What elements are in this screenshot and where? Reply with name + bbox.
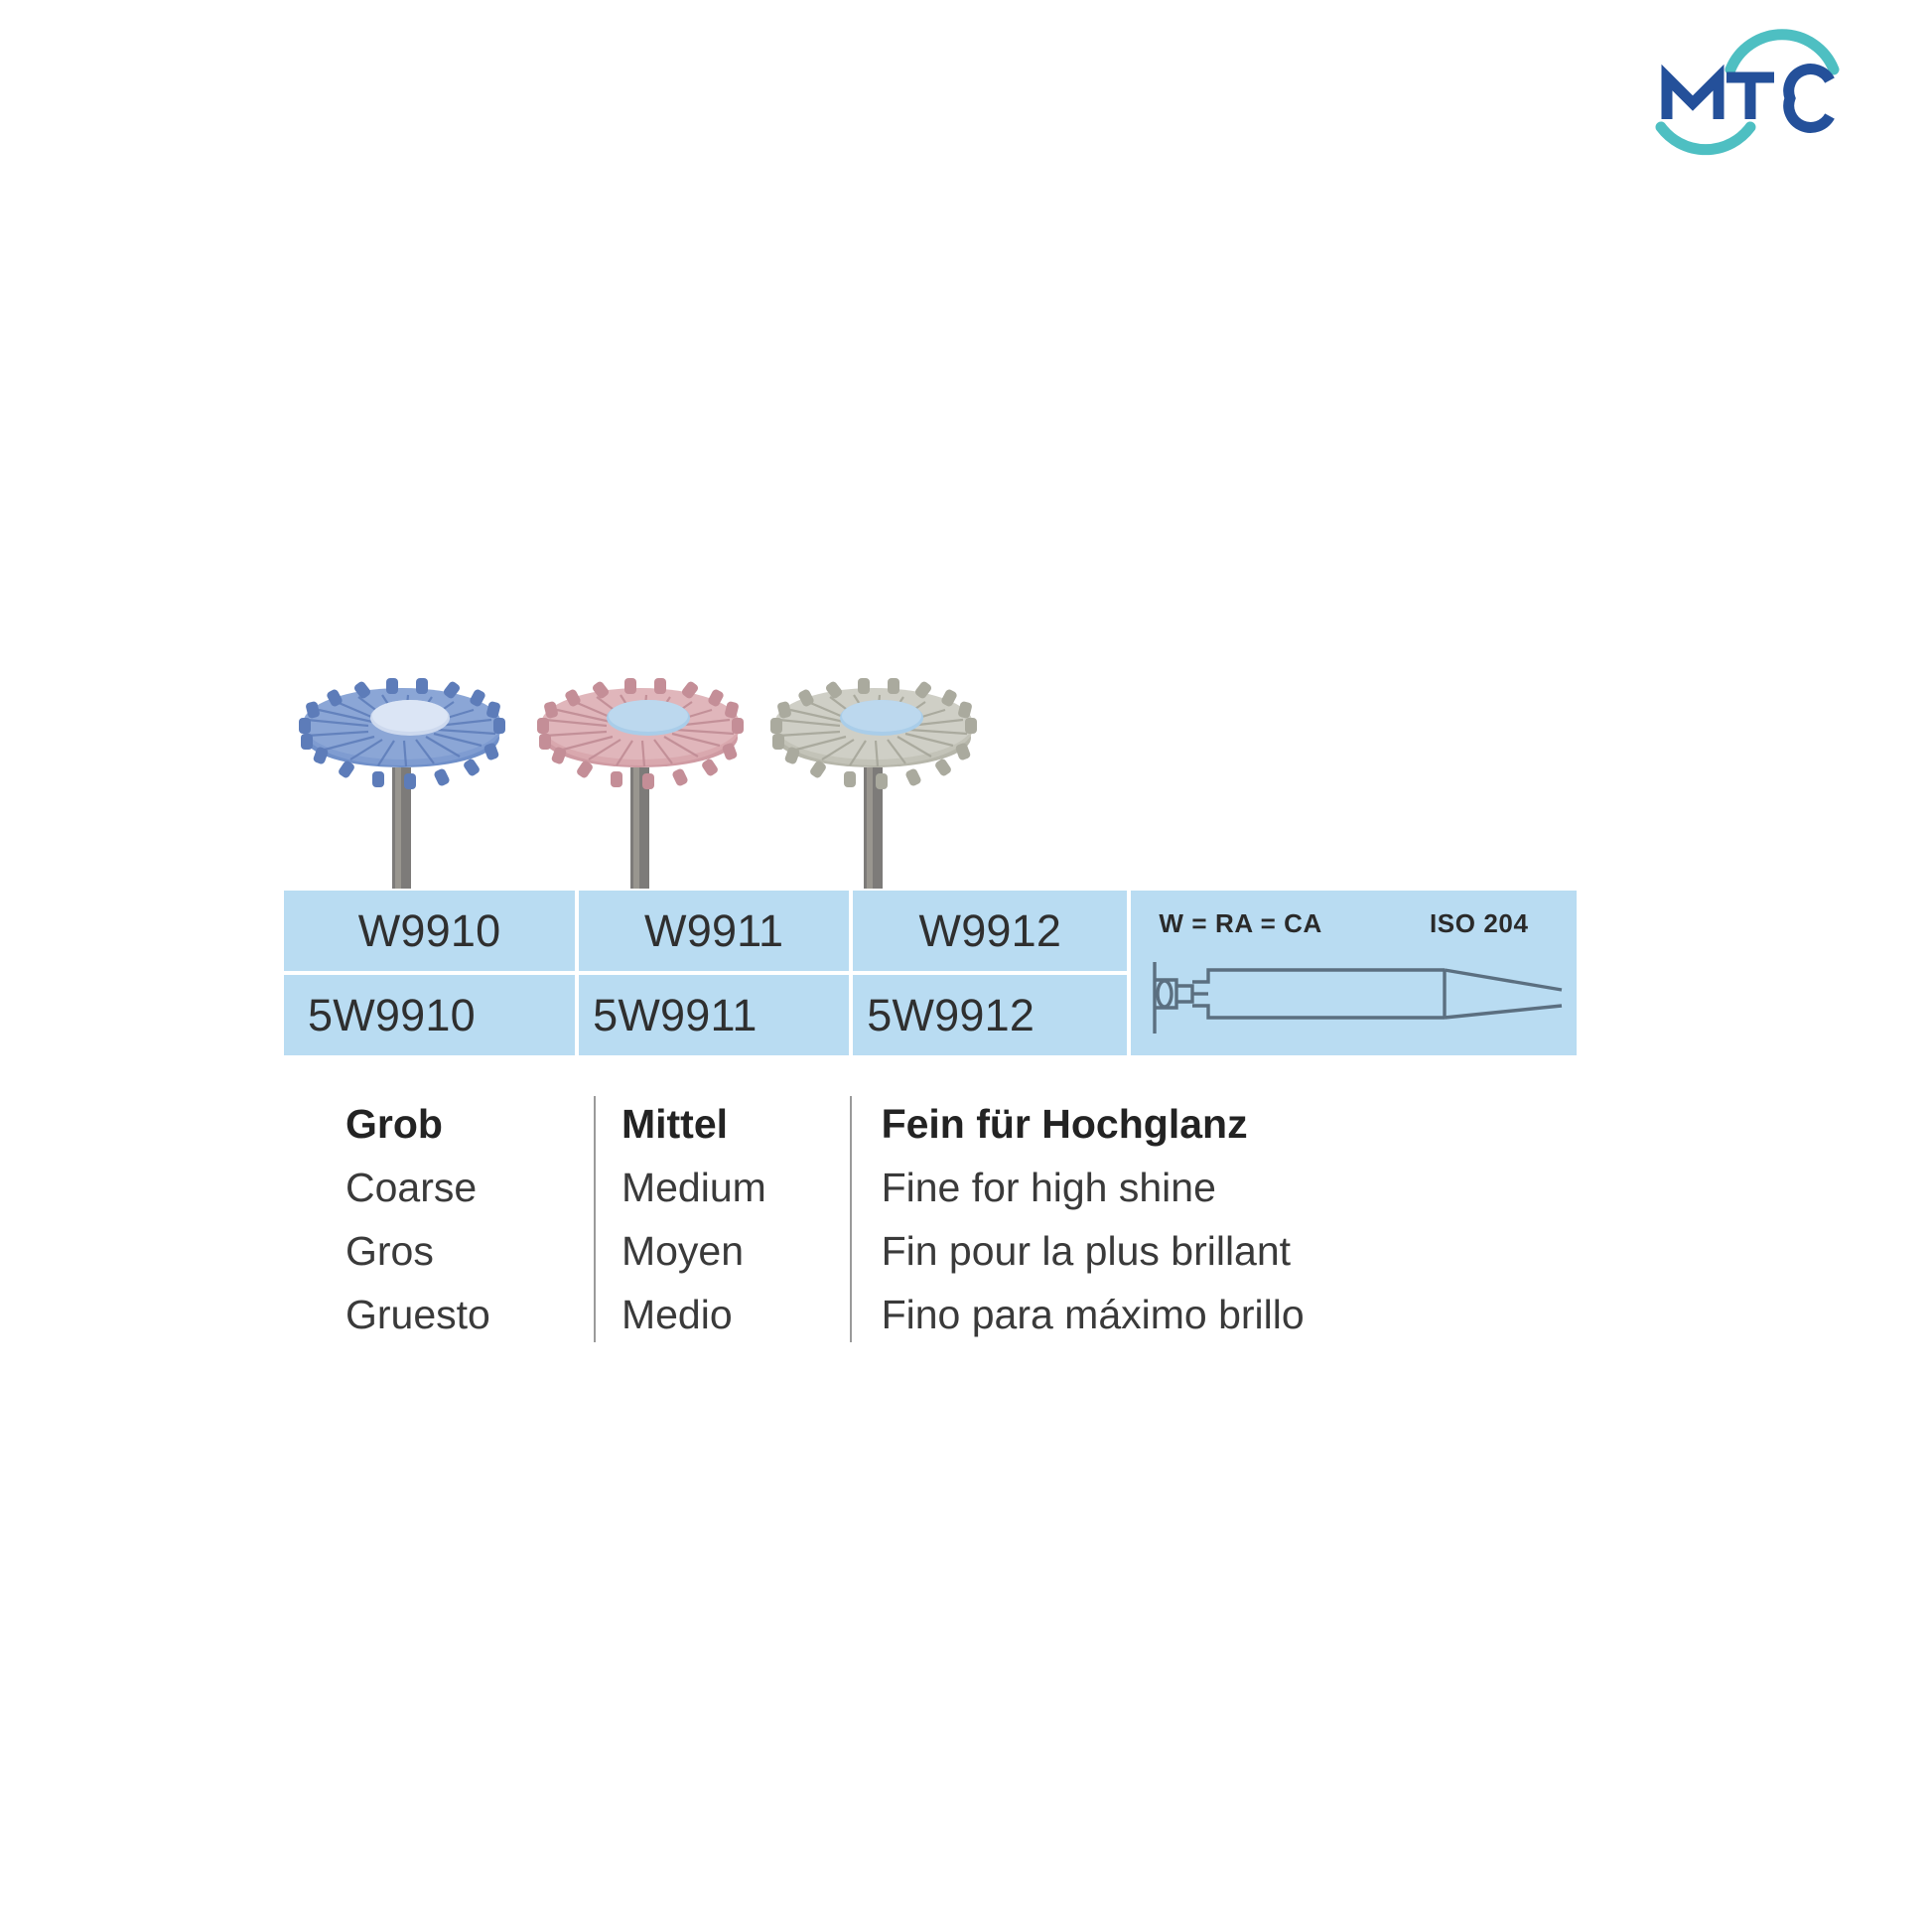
product-code-upper[interactable]: W9912 <box>853 891 1127 971</box>
iso-standard-label: ISO 204 <box>1430 908 1529 939</box>
product-code-lower[interactable]: 5W9911 <box>579 975 849 1055</box>
grit-label-de: Mittel <box>621 1092 850 1156</box>
product-code-lower[interactable]: 5W9912 <box>853 975 1127 1055</box>
column-divider <box>594 1096 596 1342</box>
disc-polisher-fine-image <box>755 640 993 894</box>
grit-label-es: Fino para máximo brillo <box>882 1283 1396 1346</box>
code-column-medium: W9911 5W9911 <box>579 891 849 1055</box>
grit-label-en: Medium <box>621 1156 850 1219</box>
product-code-upper[interactable]: W9910 <box>284 891 575 971</box>
grit-label-fr: Moyen <box>621 1219 850 1283</box>
disc-polisher-coarse-image <box>283 640 521 894</box>
grit-label-de: Fein für Hochglanz <box>882 1092 1396 1156</box>
grit-label-fr: Gros <box>345 1219 594 1283</box>
grit-description-row: Grob Coarse Gros Gruesto Mittel Medium M… <box>284 1092 1396 1350</box>
code-column-coarse: W9910 5W9910 <box>284 891 575 1055</box>
product-code-table: W9910 5W9910 W9911 5W9911 W9912 5W9912 W… <box>284 891 1577 1055</box>
grit-label-en: Fine for high shine <box>882 1156 1396 1219</box>
latch-type-shank-diagram-icon <box>1147 948 1568 1043</box>
shank-label-row: W = RA = CA ISO 204 <box>1131 908 1577 939</box>
grit-column-medium: Mittel Medium Moyen Medio <box>594 1092 850 1350</box>
product-figure-row <box>283 640 998 894</box>
brand-logo <box>1623 28 1862 167</box>
shank-type-label: W = RA = CA <box>1159 908 1322 939</box>
grit-label-en: Coarse <box>345 1156 594 1219</box>
disc-polisher-medium-image <box>521 640 759 894</box>
grit-label-de: Grob <box>345 1092 594 1156</box>
grit-label-es: Medio <box>621 1283 850 1346</box>
shank-info-panel: W = RA = CA ISO 204 <box>1131 891 1577 1055</box>
grit-column-coarse: Grob Coarse Gros Gruesto <box>284 1092 594 1350</box>
grit-label-fr: Fin pour la plus brillant <box>882 1219 1396 1283</box>
column-divider <box>850 1096 852 1342</box>
code-column-fine: W9912 5W9912 <box>853 891 1127 1055</box>
product-code-lower[interactable]: 5W9910 <box>284 975 575 1055</box>
product-code-upper[interactable]: W9911 <box>579 891 849 971</box>
grit-column-fine: Fein für Hochglanz Fine for high shine F… <box>850 1092 1396 1350</box>
grit-label-es: Gruesto <box>345 1283 594 1346</box>
